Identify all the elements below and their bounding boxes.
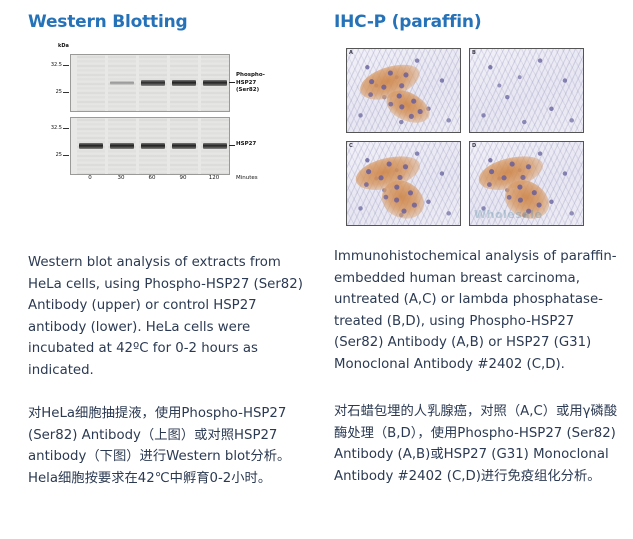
blot-label-line3: (Ser82)	[236, 87, 265, 95]
blot-band	[141, 80, 165, 85]
marker-tick-upper-32	[63, 65, 69, 66]
kda-axis-label: kDa	[58, 43, 69, 49]
marker-label-lower-25: 25	[40, 152, 62, 158]
blot-label-hsp27: HSP27	[236, 141, 256, 149]
blot-band	[203, 143, 227, 148]
blot-time-unit-label: Minutes	[236, 175, 258, 181]
blot-lane-background	[77, 55, 105, 111]
blot-timepoint-label: 0	[76, 175, 104, 181]
blot-band	[172, 80, 196, 85]
caption-western-blot-zh: 对HeLa细胞抽提液，使用Phospho-HSP27 (Ser82) Antib…	[28, 403, 308, 489]
marker-tick-upper-25	[63, 92, 69, 93]
ihc-panel-letter: A	[349, 50, 353, 56]
marker-label-lower-32: 32.5	[40, 125, 62, 131]
ihc-hematoxylin-nuclei	[470, 49, 583, 132]
blot-timepoint-label: 60	[138, 175, 166, 181]
caption-ihc-zh: 对石蜡包埋的人乳腺癌，对照（A,C）或用γ磷酸酶处理（B,D），使用Phosph…	[334, 401, 622, 487]
blot-lane	[77, 55, 105, 111]
blot-lane	[170, 118, 198, 174]
marker-label-upper-25: 25	[40, 89, 62, 95]
marker-tick-lower-32	[63, 128, 69, 129]
ihc-panel-a: A	[346, 48, 461, 133]
caption-western-blot-en: Western blot analysis of extracts from H…	[28, 252, 308, 381]
blot-lane	[139, 118, 167, 174]
blot-label-line2: HSP27	[236, 80, 265, 88]
blot-lane	[108, 118, 136, 174]
blot-time-axis: 0306090120	[70, 175, 228, 185]
ihc-figure-area: ABCWholesaleD	[334, 48, 622, 240]
ihc-panel-c: C	[346, 141, 461, 226]
blot-lane	[201, 118, 229, 174]
ihc-panel-b: B	[469, 48, 584, 133]
ihc-panel-d: WholesaleD	[469, 141, 584, 226]
caption-ihc-en: Immunohistochemical analysis of paraffin…	[334, 246, 622, 375]
blot-panel-lower	[70, 117, 230, 175]
ihc-panel-letter: D	[472, 143, 476, 149]
blot-band	[141, 143, 165, 148]
two-column-layout: Western Blotting kDa 32.5 25 Phospho-	[0, 0, 633, 489]
heading-western-blotting: Western Blotting	[28, 12, 308, 32]
blot-timepoint-label: 120	[200, 175, 228, 181]
blot-panel-upper	[70, 54, 230, 112]
blot-band	[203, 80, 227, 85]
ihc-panel-letter: B	[472, 50, 476, 56]
western-blot-figure-area: kDa 32.5 25 Phospho- HSP27 (Ser82)	[28, 54, 308, 246]
marker-tick-lower-25	[63, 155, 69, 156]
blot-label-phospho-hsp27: Phospho- HSP27 (Ser82)	[236, 72, 265, 95]
marker-label-upper-32: 32.5	[40, 62, 62, 68]
blot-lane	[77, 118, 105, 174]
pointer-upper	[229, 82, 235, 83]
blot-band	[110, 143, 134, 148]
blot-band	[172, 143, 196, 148]
column-ihc-p: IHC-P (paraffin) ABCWholesaleD Immunohis…	[316, 0, 632, 489]
blot-lane	[170, 55, 198, 111]
blot-lane	[139, 55, 167, 111]
western-blot-figure: kDa 32.5 25 Phospho- HSP27 (Ser82)	[70, 54, 300, 184]
blot-band	[110, 81, 134, 85]
blot-timepoint-label: 90	[169, 175, 197, 181]
heading-ihc-p: IHC-P (paraffin)	[334, 12, 622, 32]
ihc-watermark: Wholesale	[474, 208, 542, 221]
blot-band	[79, 143, 103, 148]
blot-label-line1: Phospho-	[236, 72, 265, 80]
column-western-blotting: Western Blotting kDa 32.5 25 Phospho-	[0, 0, 316, 489]
ihc-panel-letter: C	[349, 143, 353, 149]
blot-lane	[108, 55, 136, 111]
blot-lane	[201, 55, 229, 111]
pointer-lower	[229, 145, 235, 146]
blot-timepoint-label: 30	[107, 175, 135, 181]
figure-page: Western Blotting kDa 32.5 25 Phospho-	[0, 0, 633, 539]
ihc-panel-grid: ABCWholesaleD	[346, 48, 584, 226]
